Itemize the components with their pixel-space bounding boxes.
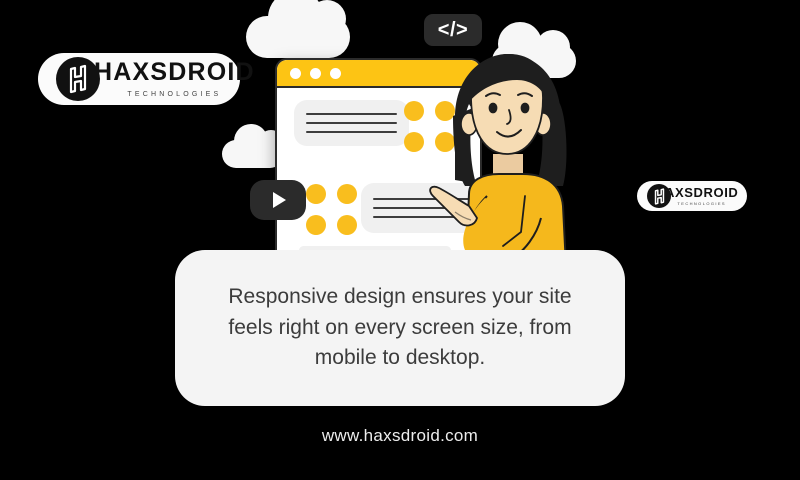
h-monogram-icon [647, 184, 671, 208]
brand-wordmark: AXSDROID TECHNOLOGIES [665, 186, 738, 206]
text-line [306, 122, 397, 124]
grid-dot [306, 215, 326, 235]
grid-dot [337, 184, 357, 204]
content-dot-grid [306, 184, 357, 235]
brand-wordmark: HAXSDROID TECHNOLOGIES [94, 60, 255, 98]
caption-text: Responsive design ensures your site feel… [175, 282, 625, 373]
text-line [306, 131, 397, 133]
brand-tagline: TECHNOLOGIES [677, 202, 726, 206]
brand-tagline: TECHNOLOGIES [127, 91, 221, 98]
h-monogram-icon [56, 57, 100, 101]
grid-dot [404, 132, 424, 152]
poster-canvas: HAXSDROID TECHNOLOGIES AXSDROID TECHNOLO… [0, 0, 800, 480]
footer-website-url[interactable]: www.haxsdroid.com [0, 426, 800, 446]
cloud-icon [246, 16, 350, 58]
brand-name: HAXSDROID [94, 60, 255, 85]
brand-name: AXSDROID [665, 186, 738, 199]
play-button[interactable] [250, 180, 306, 220]
brand-logo-secondary: AXSDROID TECHNOLOGIES [637, 181, 747, 211]
grid-dot [306, 184, 326, 204]
caption-panel: Responsive design ensures your site feel… [175, 250, 625, 406]
play-icon [273, 192, 286, 208]
code-brackets-icon: </> [424, 14, 482, 46]
grid-dot [404, 101, 424, 121]
brand-logo-primary: HAXSDROID TECHNOLOGIES [38, 53, 240, 105]
window-dot-green [330, 68, 341, 79]
grid-dot [337, 215, 357, 235]
content-text-card [294, 100, 409, 146]
window-dot-red [290, 68, 301, 79]
text-line [306, 113, 397, 115]
window-dot-yellow [310, 68, 321, 79]
